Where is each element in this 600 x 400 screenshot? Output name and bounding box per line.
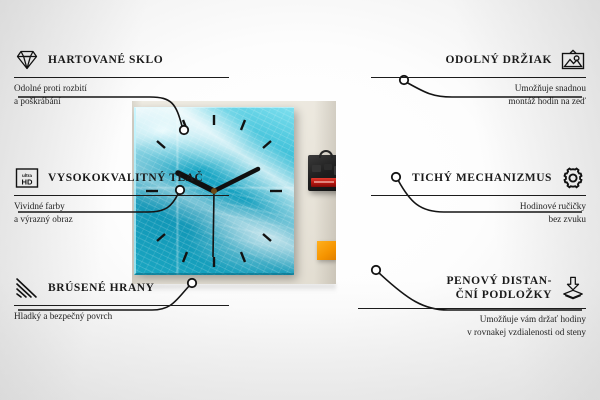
gear-icon bbox=[560, 166, 586, 190]
hotspot-dot-foam bbox=[372, 266, 380, 274]
feature-desc-line2: v rovnakej vzdialenosti od steny bbox=[358, 326, 586, 339]
feature-foam-spacers: PENOVÝ DISTAN- ČNÍ PODLOŽKY Umožňuje vám… bbox=[358, 274, 586, 339]
feature-desc-line2: a výrazný obraz bbox=[14, 213, 229, 226]
feature-title: VYSOKOKVALITNÝ TLAČ bbox=[48, 171, 203, 185]
feature-durable-holder: ODOLNÝ DRŽIAK Umožňuje snadnou montáž ho… bbox=[371, 48, 586, 109]
divider bbox=[14, 305, 229, 306]
feature-title: ODOLNÝ DRŽIAK bbox=[445, 53, 552, 67]
feature-desc-line1: Hodinové ručičky bbox=[371, 200, 586, 213]
feature-desc-line1: Vividné farby bbox=[14, 200, 229, 213]
infographic-stage: HARTOVANÉ SKLO Odolné proti rozbití a po… bbox=[0, 0, 600, 400]
feature-desc: Hladký a bezpečný povrch bbox=[14, 310, 229, 323]
divider bbox=[14, 195, 229, 196]
feature-desc: Odolné proti rozbití a poškrábání bbox=[14, 82, 229, 109]
bevel-stripes-icon bbox=[14, 276, 40, 300]
feature-title: BRÚSENÉ HRANY bbox=[48, 281, 155, 295]
hotspot-dot-glass bbox=[180, 126, 188, 134]
feature-silent-mechanism: TICHÝ MECHANIZMUS Hodinové ručičky bez z… bbox=[371, 166, 586, 227]
feature-beveled-edges: BRÚSENÉ HRANY Hladký a bezpečný povrch bbox=[14, 276, 229, 323]
feature-tempered-glass: HARTOVANÉ SKLO Odolné proti rozbití a po… bbox=[14, 48, 229, 109]
feature-desc-line1: Umožňuje vám držať hodiny bbox=[358, 313, 586, 326]
feature-title-line2: ČNÍ PODLOŽKY bbox=[446, 288, 552, 302]
svg-text:HD: HD bbox=[22, 178, 33, 187]
feature-title: PENOVÝ DISTAN- ČNÍ PODLOŽKY bbox=[446, 274, 552, 303]
feature-desc: Umožňuje vám držať hodiny v rovnakej vzd… bbox=[358, 313, 586, 340]
diamond-icon bbox=[14, 48, 40, 72]
feature-title: TICHÝ MECHANIZMUS bbox=[412, 171, 552, 185]
feature-desc-line1: Odolné proti rozbití bbox=[14, 82, 229, 95]
feature-desc-line2: bez zvuku bbox=[371, 213, 586, 226]
feature-desc: Hodinové ručičky bez zvuku bbox=[371, 200, 586, 227]
picture-hanger-icon bbox=[560, 48, 586, 72]
feature-title: HARTOVANÉ SKLO bbox=[48, 53, 163, 67]
feature-title-line1: PENOVÝ DISTAN- bbox=[446, 274, 552, 288]
feature-desc: Vividné farby a výrazný obraz bbox=[14, 200, 229, 227]
stacked-layers-arrow-icon bbox=[560, 276, 586, 300]
feature-desc-line1: Umožňuje snadnou bbox=[371, 82, 586, 95]
divider bbox=[371, 195, 586, 196]
feature-desc-line2: montáž hodin na zeď bbox=[371, 95, 586, 108]
feature-desc: Umožňuje snadnou montáž hodin na zeď bbox=[371, 82, 586, 109]
divider bbox=[358, 308, 586, 309]
feature-desc-line1: Hladký a bezpečný povrch bbox=[14, 310, 229, 323]
divider bbox=[371, 77, 586, 78]
ultra-hd-icon: ultra HD bbox=[14, 166, 40, 190]
divider bbox=[14, 77, 229, 78]
feature-desc-line2: a poškrábání bbox=[14, 95, 229, 108]
feature-hd-print: ultra HD VYSOKOKVALITNÝ TLAČ Vividné far… bbox=[14, 166, 229, 227]
